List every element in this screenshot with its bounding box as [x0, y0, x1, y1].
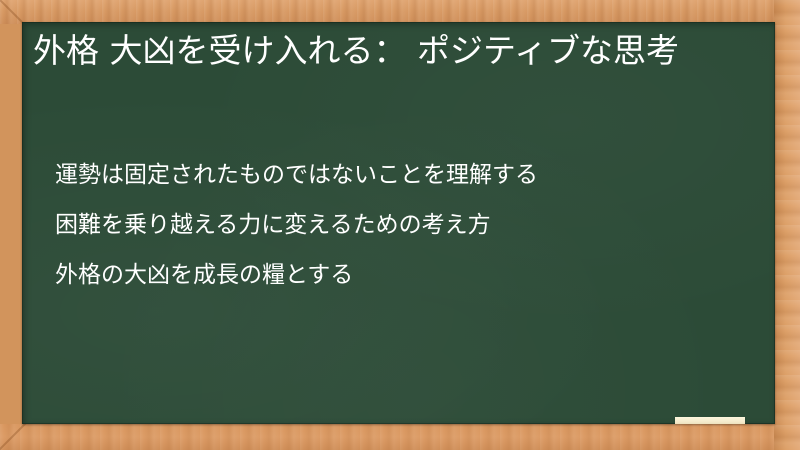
bullet-item-1: 運勢は固定されたものではないことを理解する: [55, 150, 755, 200]
blackboard-surface: 外格 大凶を受け入れる： ポジティブな思考 運勢は固定されたものではないことを理…: [22, 22, 775, 424]
frame-left-stile: [0, 0, 24, 450]
frame-top-rail: [0, 0, 800, 24]
frame-right-stile: [774, 0, 800, 450]
frame-bottom-rail: [0, 424, 800, 450]
bullet-list: 運勢は固定されたものではないことを理解する 困難を乗り越える力に変えるための考え…: [55, 150, 755, 300]
chalk-stick: [675, 417, 745, 424]
bullet-item-2: 困難を乗り越える力に変えるための考え方: [55, 200, 755, 250]
chalkboard-slide: 外格 大凶を受け入れる： ポジティブな思考 運勢は固定されたものではないことを理…: [0, 0, 800, 450]
bullet-item-3: 外格の大凶を成長の糧とする: [55, 250, 755, 300]
slide-title: 外格 大凶を受け入れる： ポジティブな思考: [33, 28, 733, 74]
